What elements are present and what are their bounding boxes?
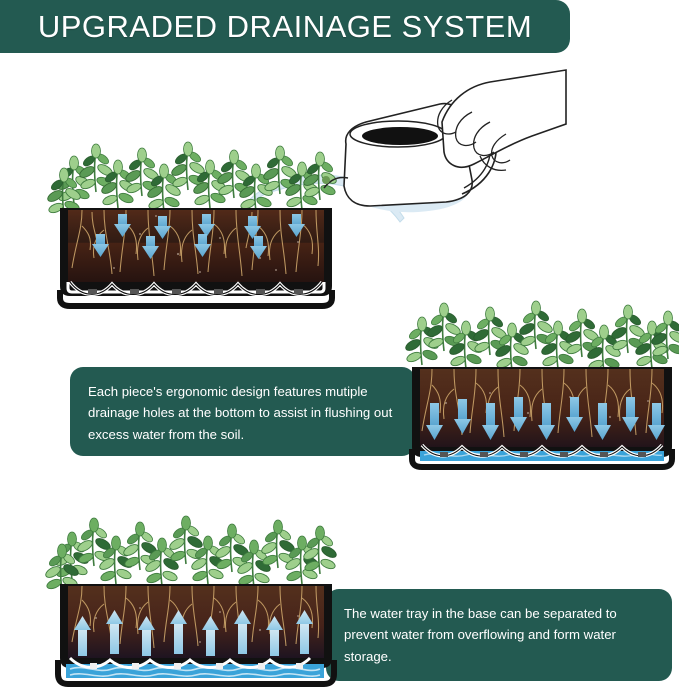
planter-watering-drainage [52, 138, 340, 318]
illustration-canvas: UPGRADED DRAINAGE SYSTEM [0, 0, 679, 691]
hand-outline [442, 70, 566, 167]
planter-1-foliage [46, 142, 338, 216]
caption-text-2: The water tray in the base can be separa… [344, 603, 654, 667]
planter-3-graphic [52, 512, 340, 690]
page-title-banner: UPGRADED DRAINAGE SYSTEM [0, 0, 570, 53]
watering-can-opening [362, 127, 438, 145]
planter-2-graphic [404, 299, 679, 479]
planter-1-graphic [52, 138, 340, 318]
planter-3-foliage [44, 516, 338, 592]
caption-text-1: Each piece's ergonomic design features m… [88, 381, 397, 445]
planter-drainage-holes [404, 299, 679, 479]
page-title: UPGRADED DRAINAGE SYSTEM [38, 9, 532, 45]
planter-water-storage [52, 512, 340, 690]
planter-2-foliage [404, 301, 679, 373]
caption-box-water-storage: The water tray in the base can be separa… [326, 589, 672, 681]
caption-box-drainage-holes: Each piece's ergonomic design features m… [70, 367, 415, 456]
hand-holding-watering-can [322, 60, 567, 240]
